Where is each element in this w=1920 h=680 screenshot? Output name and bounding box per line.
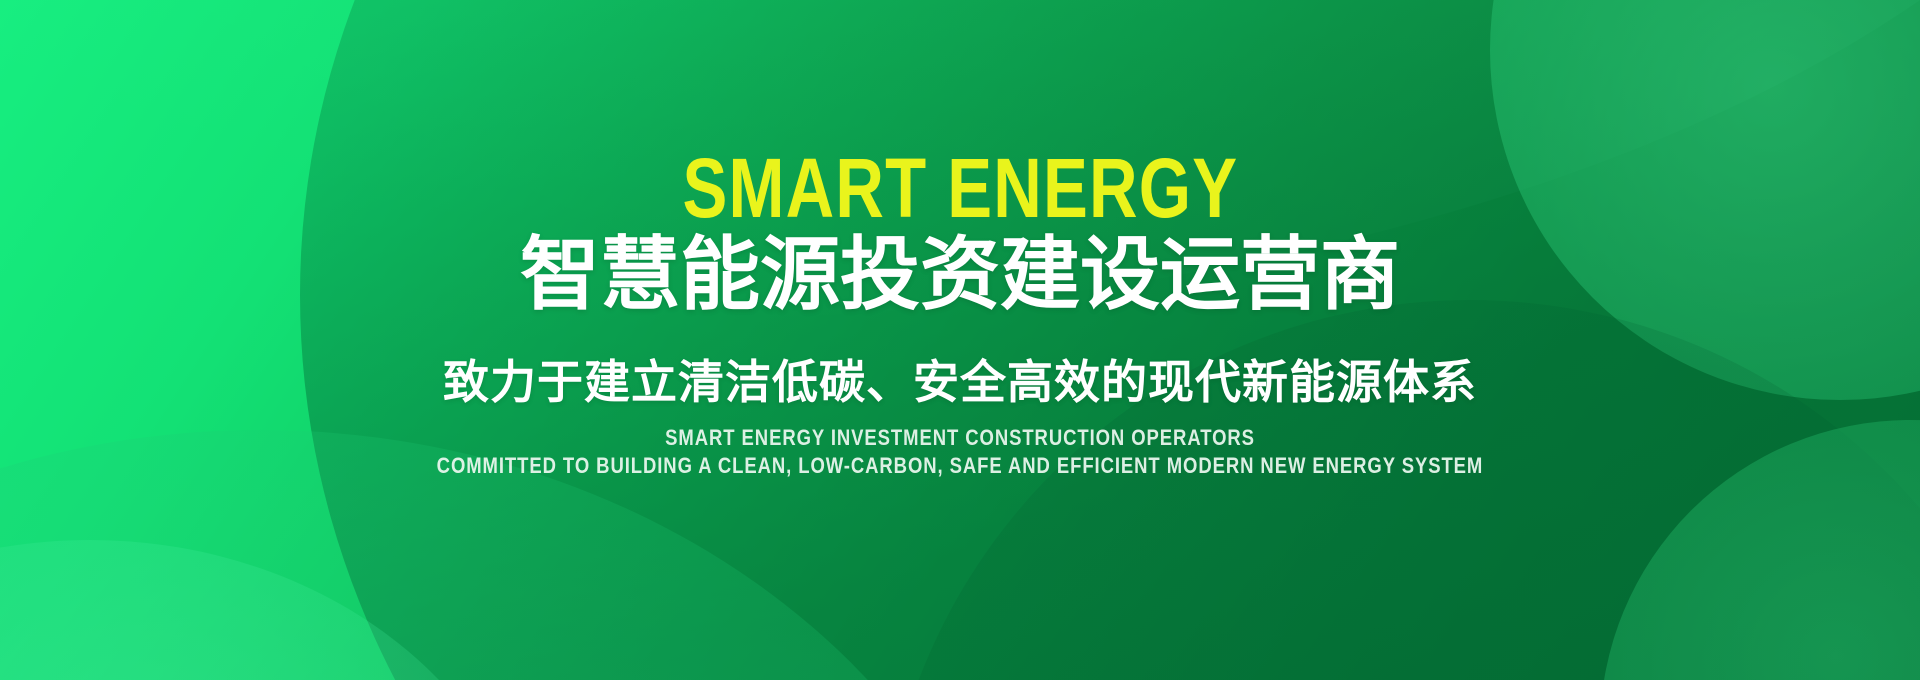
hero-content: SMART ENERGY 智慧能源投资建设运营商 致力于建立清洁低碳、安全高效的… [0,0,1920,680]
tagline-english-group: SMART ENERGY INVESTMENT CONSTRUCTION OPE… [337,427,1583,477]
brand-name-english: SMART ENERGY [682,147,1238,229]
brand-name-chinese: 智慧能源投资建设运营商 [520,234,1400,316]
tagline-english-line-1: SMART ENERGY INVESTMENT CONSTRUCTION OPE… [665,427,1255,449]
tagline-english-line-2: COMMITTED TO BUILDING A CLEAN, LOW-CARBO… [437,455,1484,477]
hero-banner: SMART ENERGY 智慧能源投资建设运营商 致力于建立清洁低碳、安全高效的… [0,0,1920,680]
tagline-chinese: 致力于建立清洁低碳、安全高效的现代新能源体系 [443,358,1477,406]
